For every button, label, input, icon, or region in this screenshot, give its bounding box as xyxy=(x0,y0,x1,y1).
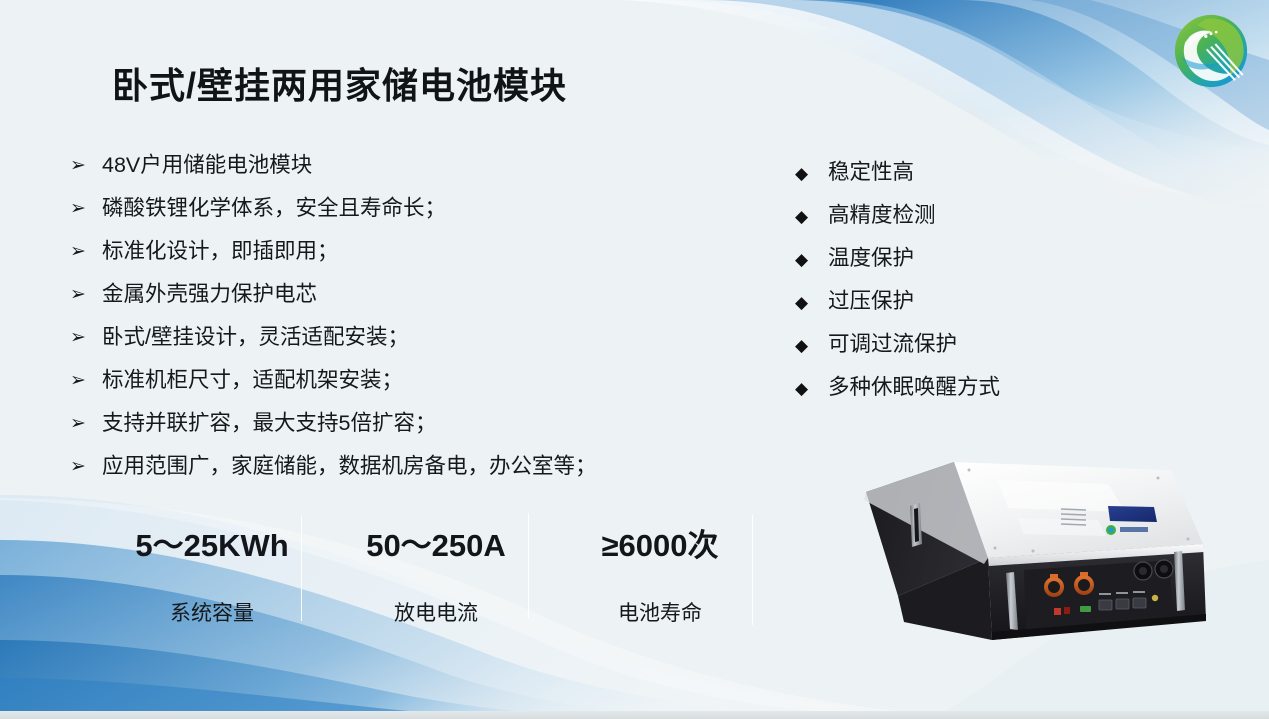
list-item: ◆ 温度保护 xyxy=(795,241,1095,284)
stat-block: 50～250A 放电电流 xyxy=(324,512,548,627)
list-item-label: 支持并联扩容，最大支持5倍扩容； xyxy=(102,406,436,437)
list-item-label: 标准化设计，即插即用； xyxy=(102,234,339,265)
left-feature-list: ➢ 48V户用储能电池模块 ➢ 磷酸铁锂化学体系，安全且寿命长； ➢ 标准化设计… xyxy=(70,148,710,492)
list-item-label: 温度保护 xyxy=(828,241,914,272)
right-feature-list: ◆ 稳定性高 ◆ 高精度检测 ◆ 温度保护 ◆ 过压保护 ◆ 可调过流保护 ◆ … xyxy=(795,155,1095,413)
list-item: ➢ 标准机柜尺寸，适配机架安装； xyxy=(70,363,710,406)
arrow-bullet-icon: ➢ xyxy=(70,242,102,261)
diamond-bullet-icon: ◆ xyxy=(795,166,828,183)
company-logo xyxy=(1168,8,1254,94)
list-item: ◆ 过压保护 xyxy=(795,284,1095,327)
bottom-edge-strip xyxy=(0,711,1269,719)
list-item: ◆ 可调过流保护 xyxy=(795,327,1095,370)
list-item-label: 应用范围广，家庭储能，数据机房备电，办公室等； xyxy=(102,449,597,480)
arrow-bullet-icon: ➢ xyxy=(70,156,102,175)
list-item: ➢ 标准化设计，即插即用； xyxy=(70,234,710,277)
list-item-label: 磷酸铁锂化学体系，安全且寿命长； xyxy=(102,191,446,222)
diamond-bullet-icon: ◆ xyxy=(795,295,828,312)
diamond-bullet-icon: ◆ xyxy=(795,381,828,398)
list-item: ◆ 多种休眠唤醒方式 xyxy=(795,370,1095,413)
list-item-label: 高精度检测 xyxy=(828,198,936,229)
list-item-label: 金属外壳强力保护电芯 xyxy=(102,277,317,308)
slide-canvas: 卧式/壁挂两用家储电池模块 ➢ 48V户用储能电池模块 ➢ 磷酸铁锂化学体系，安… xyxy=(0,0,1269,719)
spec-stats-row: 5～25KWh 系统容量 50～250A 放电电流 ≥6000次 电池寿命 xyxy=(100,512,780,627)
list-item: ➢ 支持并联扩容，最大支持5倍扩容； xyxy=(70,406,710,449)
list-item-label: 标准机柜尺寸，适配机架安装； xyxy=(102,363,403,394)
list-item: ➢ 48V户用储能电池模块 xyxy=(70,148,710,191)
list-item-label: 卧式/壁挂设计，灵活适配安装； xyxy=(102,320,409,351)
stat-value: ≥6000次 xyxy=(548,512,772,561)
arrow-bullet-icon: ➢ xyxy=(70,285,102,304)
arrow-bullet-icon: ➢ xyxy=(70,414,102,433)
diamond-bullet-icon: ◆ xyxy=(795,209,828,226)
list-item-label: 多种休眠唤醒方式 xyxy=(828,370,1000,401)
stat-divider xyxy=(752,515,753,625)
stat-divider xyxy=(301,516,302,621)
list-item: ◆ 稳定性高 xyxy=(795,155,1095,198)
diamond-bullet-icon: ◆ xyxy=(795,252,828,269)
battery-module-photo xyxy=(858,440,1238,660)
list-item-label: 过压保护 xyxy=(828,284,914,315)
list-item: ➢ 磷酸铁锂化学体系，安全且寿命长； xyxy=(70,191,710,234)
stat-block: 5～25KWh 系统容量 xyxy=(100,512,324,627)
list-item-label: 稳定性高 xyxy=(828,155,914,186)
stat-value: 50～250A xyxy=(324,512,548,561)
diamond-bullet-icon: ◆ xyxy=(795,338,828,355)
stat-label: 放电电流 xyxy=(324,561,548,627)
stat-label: 电池寿命 xyxy=(548,561,772,627)
arrow-bullet-icon: ➢ xyxy=(70,328,102,347)
arrow-bullet-icon: ➢ xyxy=(70,371,102,390)
arrow-bullet-icon: ➢ xyxy=(70,199,102,218)
list-item-label: 48V户用储能电池模块 xyxy=(102,148,312,179)
list-item: ➢ 金属外壳强力保护电芯 xyxy=(70,277,710,320)
arrow-bullet-icon: ➢ xyxy=(70,457,102,476)
stat-label: 系统容量 xyxy=(100,561,324,627)
list-item: ➢ 卧式/壁挂设计，灵活适配安装； xyxy=(70,320,710,363)
stat-block: ≥6000次 电池寿命 xyxy=(548,512,772,627)
stat-divider xyxy=(528,513,529,618)
list-item: ➢ 应用范围广，家庭储能，数据机房备电，办公室等； xyxy=(70,449,710,492)
list-item-label: 可调过流保护 xyxy=(828,327,957,358)
list-item: ◆ 高精度检测 xyxy=(795,198,1095,241)
stat-value: 5～25KWh xyxy=(100,512,324,561)
page-title: 卧式/壁挂两用家储电池模块 xyxy=(112,57,567,109)
